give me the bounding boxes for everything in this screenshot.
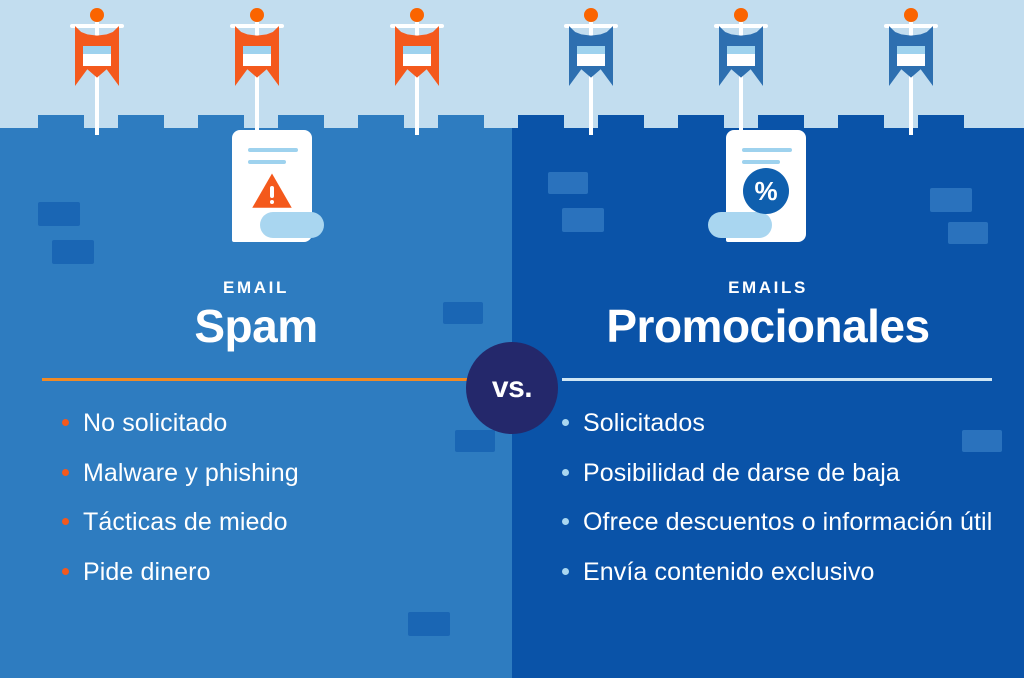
scroll-text-line (742, 160, 780, 164)
percent-scroll-icon: % (726, 130, 818, 242)
flag-banner (569, 26, 613, 86)
flag-blue-2 (708, 0, 774, 135)
list-item-label: Pide dinero (83, 557, 492, 589)
decor-rect-right-2 (562, 208, 604, 232)
left-title: Spam (0, 302, 512, 350)
flag-banner (719, 26, 763, 86)
envelope-icon (243, 46, 271, 66)
envelope-inner (897, 46, 925, 54)
list-item: Tácticas de miedo (62, 507, 492, 539)
infographic-root: % EMAIL Spam EMAILS Promocionales vs. No… (0, 0, 1024, 678)
exclamation-bar (270, 186, 274, 198)
scroll-text-line (248, 160, 286, 164)
scroll-curl (708, 212, 772, 238)
exclamation-dot (270, 200, 274, 204)
scroll-text-line (742, 148, 792, 152)
left-divider (42, 378, 472, 381)
envelope-icon (727, 46, 755, 66)
list-item-label: No solicitado (83, 408, 492, 440)
flag-finial-icon (90, 8, 104, 22)
decor-rect-right-3 (930, 188, 972, 212)
flag-blue-1 (558, 0, 624, 135)
flag-banner (75, 26, 119, 86)
envelope-inner (83, 46, 111, 54)
list-item-label: Posibilidad de darse de baja (583, 458, 1002, 490)
left-kicker: EMAIL (0, 278, 512, 298)
right-title: Promocionales (512, 302, 1024, 350)
bullet-dot-icon (562, 419, 569, 426)
left-column-header: EMAIL Spam (0, 278, 512, 350)
flag-orange-3 (384, 0, 450, 135)
decor-rect-left-1 (38, 202, 80, 226)
list-item-label: Tácticas de miedo (83, 507, 492, 539)
list-item: Solicitados (562, 408, 1002, 440)
percent-badge-icon: % (743, 168, 789, 214)
decor-rect-right-4 (948, 222, 988, 244)
bullet-dot-icon (562, 518, 569, 525)
decor-rect-right-1 (548, 172, 588, 194)
envelope-inner (577, 46, 605, 54)
bullet-dot-icon (562, 469, 569, 476)
decor-rect-left-5 (408, 612, 450, 636)
right-column-header: EMAILS Promocionales (512, 278, 1024, 350)
vs-badge: vs. (466, 342, 558, 434)
list-item-label: Ofrece descuentos o información útil (583, 507, 1002, 539)
scroll-text-line (248, 148, 298, 152)
envelope-inner (403, 46, 431, 54)
envelope-icon (403, 46, 431, 66)
list-item: Posibilidad de darse de baja (562, 458, 1002, 490)
bullet-dot-icon (62, 518, 69, 525)
list-item-label: Malware y phishing (83, 458, 492, 490)
left-bullet-list: No solicitado Malware y phishing Táctica… (62, 408, 492, 606)
list-item: Envía contenido exclusivo (562, 557, 1002, 589)
flag-orange-1 (64, 0, 130, 135)
flag-finial-icon (410, 8, 424, 22)
envelope-icon (83, 46, 111, 66)
bullet-dot-icon (62, 568, 69, 575)
flag-finial-icon (904, 8, 918, 22)
bullet-dot-icon (562, 568, 569, 575)
list-item: Malware y phishing (62, 458, 492, 490)
warning-scroll-icon (232, 130, 324, 242)
flag-banner (889, 26, 933, 86)
envelope-inner (243, 46, 271, 54)
list-item-label: Envía contenido exclusivo (583, 557, 1002, 589)
flag-blue-3 (878, 0, 944, 135)
scroll-curl (260, 212, 324, 238)
bullet-dot-icon (62, 469, 69, 476)
envelope-icon (577, 46, 605, 66)
right-divider (562, 378, 992, 381)
flag-banner (395, 26, 439, 86)
bullet-dot-icon (62, 419, 69, 426)
envelope-inner (727, 46, 755, 54)
right-bullet-list: Solicitados Posibilidad de darse de baja… (562, 408, 1002, 606)
list-item-label: Solicitados (583, 408, 1002, 440)
right-kicker: EMAILS (512, 278, 1024, 298)
flag-finial-icon (734, 8, 748, 22)
flag-orange-2 (224, 0, 290, 135)
list-item: No solicitado (62, 408, 492, 440)
warning-triangle-icon (251, 172, 293, 210)
decor-rect-left-2 (52, 240, 94, 264)
flag-finial-icon (250, 8, 264, 22)
envelope-icon (897, 46, 925, 66)
flag-banner (235, 26, 279, 86)
list-item: Pide dinero (62, 557, 492, 589)
flag-finial-icon (584, 8, 598, 22)
list-item: Ofrece descuentos o información útil (562, 507, 1002, 539)
